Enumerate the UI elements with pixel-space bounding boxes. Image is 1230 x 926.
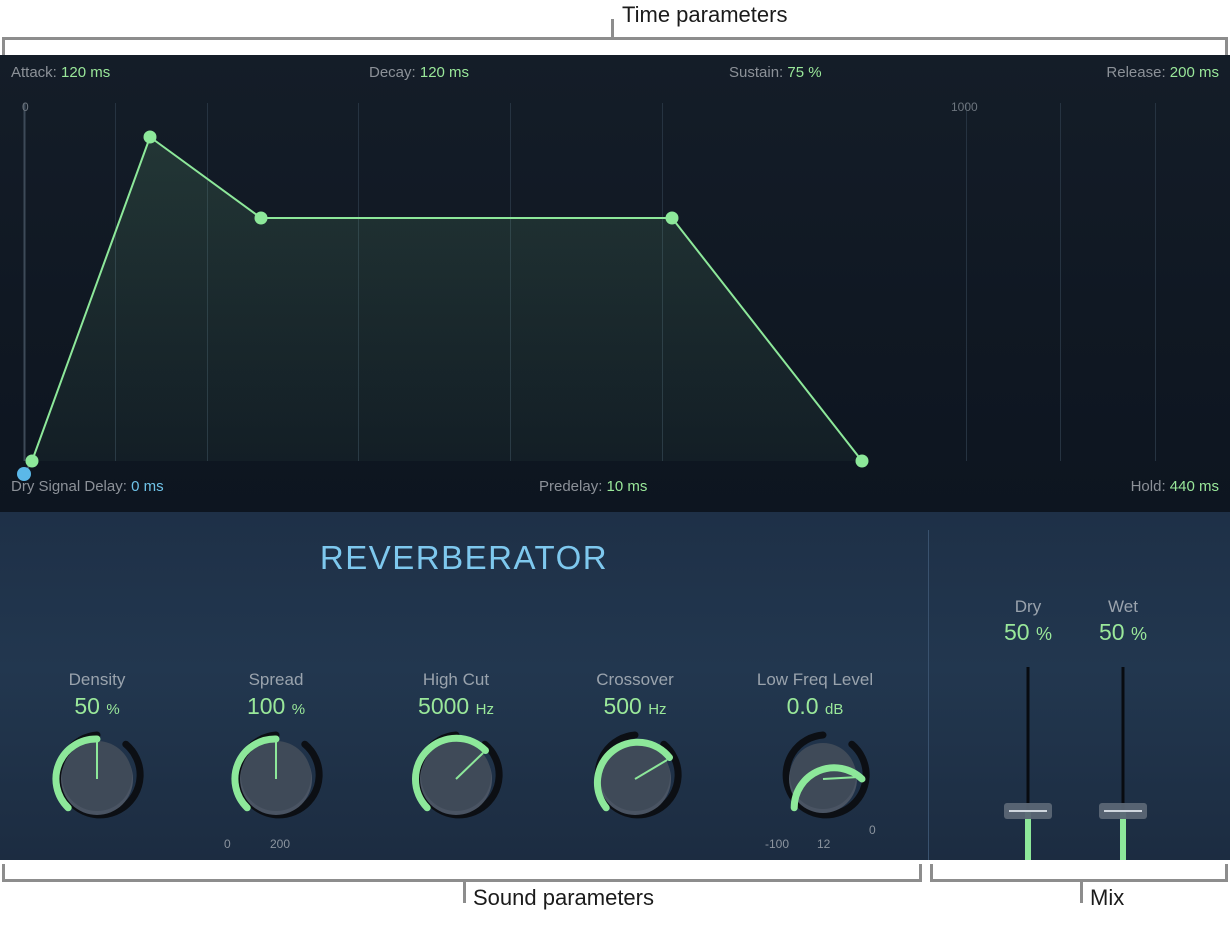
param-dry-signal-delay-label: Dry Signal Delay: [11, 478, 127, 495]
fader-cell-wet[interactable]: Wet 50 % [1068, 597, 1178, 860]
fader-value-number-dry: 50 [1004, 619, 1030, 645]
axis-tick-0: 0 [22, 100, 29, 114]
fader-value-wet[interactable]: 50 % [1068, 617, 1178, 649]
param-hold-label: Hold: [1131, 478, 1166, 495]
knob-range-crossover [545, 837, 725, 853]
knob-value-number-crossover: 500 [603, 693, 641, 719]
bracket-time-parameters [2, 37, 1228, 55]
page-title: REVERBERATOR [0, 539, 928, 577]
knob-value-density[interactable]: 50 % [7, 691, 187, 725]
reverberator-plugin-window: 0 1000 Attack: 120 ms Decay: 120 ms Sust… [0, 55, 1230, 860]
param-predelay[interactable]: Predelay: 10 ms [539, 478, 647, 495]
knob-label-density: Density [7, 670, 187, 690]
param-dry-signal-delay[interactable]: Dry Signal Delay: 0 ms [11, 478, 164, 495]
envelope-graph[interactable] [0, 55, 1230, 512]
knob-value-low-freq-level[interactable]: 0.0 dB [725, 691, 905, 725]
param-sustain-value[interactable]: 75 % [787, 64, 821, 81]
knob-value-number-low-freq-level: 0.0 [787, 693, 819, 719]
knob-cell-high-cut[interactable]: High Cut 5000 Hz [366, 670, 546, 853]
knob-zero-label-low-freq-level: 0 [869, 823, 876, 837]
knob-range-high-cut [366, 837, 546, 853]
param-sustain-label: Sustain: [729, 64, 783, 81]
knob-range-density [7, 837, 187, 853]
param-release-label: Release: [1106, 64, 1165, 81]
bracket-mix [930, 864, 1228, 882]
param-decay[interactable]: Decay: 120 ms [369, 64, 469, 81]
knob-range-lo-low-freq-level: -100 [765, 837, 789, 851]
knob-label-low-freq-level: Low Freq Level [725, 670, 905, 690]
envelope-node-release [856, 455, 869, 468]
knob-value-high-cut[interactable]: 5000 Hz [366, 691, 546, 725]
param-sustain[interactable]: Sustain: 75 % [729, 64, 822, 81]
param-release-value[interactable]: 200 ms [1170, 64, 1219, 81]
param-attack-label: Attack: [11, 64, 57, 81]
knob-value-crossover[interactable]: 500 Hz [545, 691, 725, 725]
fader-dry[interactable] [973, 663, 1083, 860]
callout-mix: Mix [1090, 885, 1124, 911]
envelope-node-decay [255, 212, 268, 225]
knob-value-unit-density: % [106, 701, 119, 718]
panel-divider [928, 530, 929, 860]
time-parameters-top-row: Attack: 120 ms Decay: 120 ms Sustain: 75… [0, 64, 1230, 92]
fader-wet[interactable] [1068, 663, 1178, 860]
knob-value-number-density: 50 [74, 693, 100, 719]
knob-value-unit-low-freq-level: dB [825, 701, 843, 718]
fader-label-wet: Wet [1068, 597, 1178, 617]
knob-value-unit-high-cut: Hz [476, 701, 494, 718]
axis-tick-1000: 1000 [951, 100, 978, 114]
envelope-display[interactable]: 0 1000 Attack: 120 ms Decay: 120 ms Sust… [0, 55, 1230, 512]
knob-label-spread: Spread [186, 670, 366, 690]
bracket-tick-time-parameters [611, 19, 614, 39]
param-attack[interactable]: Attack: 120 ms [11, 64, 110, 81]
knob-range-low-freq-level: -100 12 [725, 837, 905, 853]
bracket-tick-sound-parameters [463, 879, 466, 903]
param-dry-signal-delay-value[interactable]: 0 ms [131, 478, 164, 495]
knob-value-unit-crossover: Hz [648, 701, 666, 718]
bracket-sound-parameters [2, 864, 922, 882]
knob-cell-low-freq-level[interactable]: Low Freq Level 0.0 dB 0 -100 12 [725, 670, 905, 853]
knob-label-high-cut: High Cut [366, 670, 546, 690]
fader-value-unit-wet: % [1131, 624, 1147, 644]
knob-density[interactable] [7, 731, 187, 831]
knob-low-freq-level[interactable]: 0 [725, 731, 905, 831]
knob-value-unit-spread: % [292, 701, 305, 718]
param-predelay-value[interactable]: 10 ms [607, 478, 648, 495]
fader-label-dry: Dry [973, 597, 1083, 617]
fader-value-number-wet: 50 [1099, 619, 1125, 645]
callout-sound-parameters: Sound parameters [473, 885, 654, 911]
knob-cell-crossover[interactable]: Crossover 500 Hz [545, 670, 725, 853]
bracket-tick-mix [1080, 879, 1083, 903]
knob-value-number-high-cut: 5000 [418, 693, 469, 719]
knob-range-hi-spread: 200 [270, 837, 290, 851]
knob-cell-spread[interactable]: Spread 100 % 0 200 [186, 670, 366, 853]
knob-crossover[interactable] [545, 731, 725, 831]
knob-value-spread[interactable]: 100 % [186, 691, 366, 725]
fader-value-dry[interactable]: 50 % [973, 617, 1083, 649]
knob-range-spread: 0 200 [186, 837, 366, 853]
knob-label-crossover: Crossover [545, 670, 725, 690]
time-parameters-bottom-row: Dry Signal Delay: 0 ms Predelay: 10 ms H… [0, 478, 1230, 506]
envelope-fill [32, 137, 862, 461]
envelope-node-hold [666, 212, 679, 225]
knob-high-cut[interactable] [366, 731, 546, 831]
envelope-node-start [26, 455, 39, 468]
param-release[interactable]: Release: 200 ms [1106, 64, 1219, 81]
knob-spread[interactable] [186, 731, 366, 831]
knob-range-hi-low-freq-level: 12 [817, 837, 830, 851]
fader-cell-dry[interactable]: Dry 50 % [973, 597, 1083, 860]
sound-parameters-panel: REVERBERATOR Density 50 % [0, 512, 1230, 860]
envelope-node-attack [144, 131, 157, 144]
param-predelay-label: Predelay: [539, 478, 602, 495]
param-attack-value[interactable]: 120 ms [61, 64, 110, 81]
knob-range-lo-spread: 0 [224, 837, 231, 851]
param-decay-label: Decay: [369, 64, 416, 81]
param-decay-value[interactable]: 120 ms [420, 64, 469, 81]
fader-value-unit-dry: % [1036, 624, 1052, 644]
callout-time-parameters: Time parameters [622, 2, 787, 28]
param-hold-value[interactable]: 440 ms [1170, 478, 1219, 495]
knob-value-number-spread: 100 [247, 693, 285, 719]
param-hold[interactable]: Hold: 440 ms [1131, 478, 1219, 495]
knob-cell-density[interactable]: Density 50 % [7, 670, 187, 853]
